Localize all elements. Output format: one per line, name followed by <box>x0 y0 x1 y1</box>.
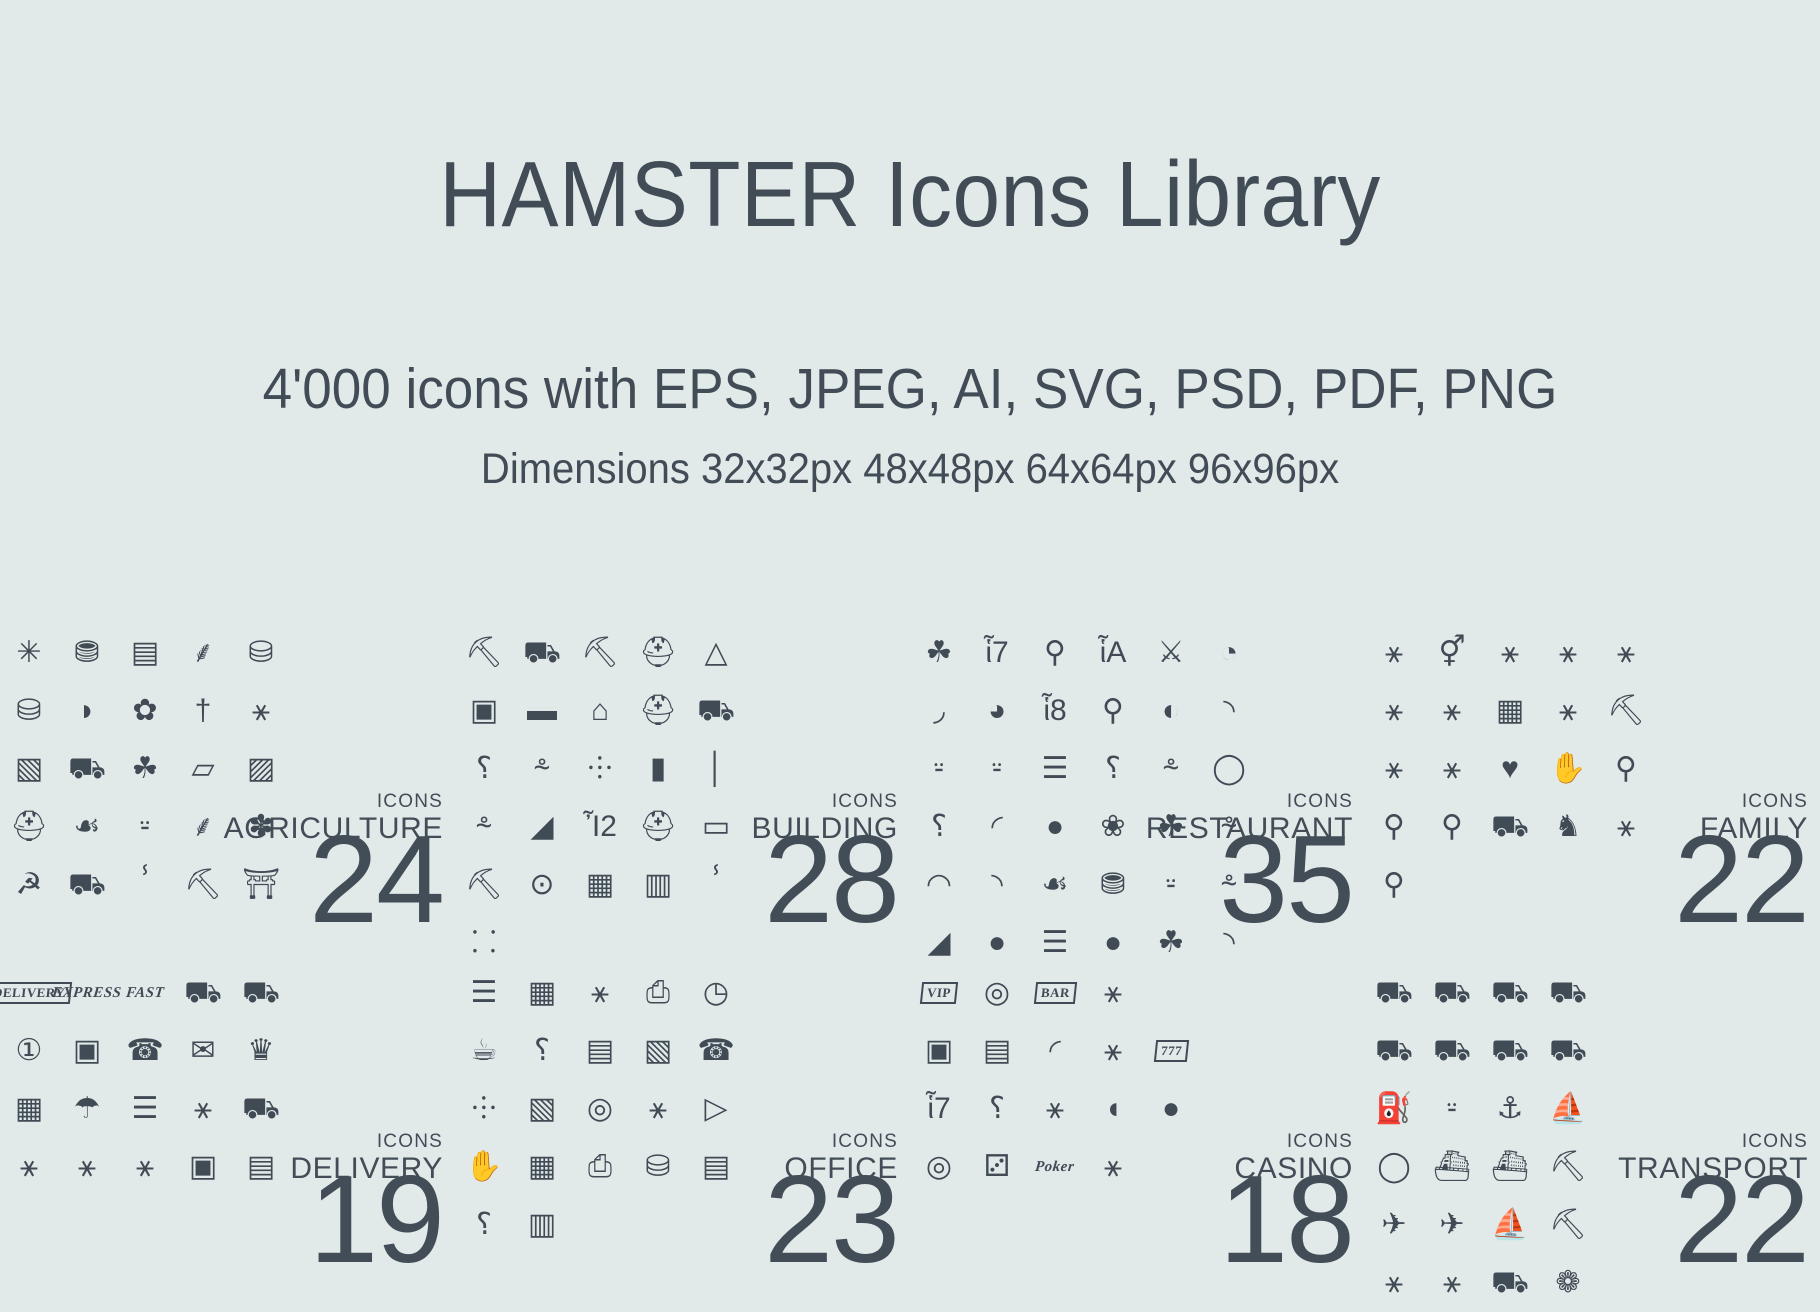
scooter-icon-glyph: ⚹ <box>78 1152 96 1182</box>
caption-icons-label: ICONS <box>1674 792 1808 811</box>
noodle-plate-icon-glyph: ◝ <box>991 870 1003 900</box>
coffee-cup-icon[interactable]: ☕ <box>455 1022 513 1080</box>
train-icon[interactable]: ⛟ <box>1481 1254 1539 1312</box>
chip-icon-glyph: ◎ <box>926 1152 952 1182</box>
bicycle-icon[interactable]: ⚲ <box>1423 798 1481 856</box>
peas-pod-icon[interactable]: ☙ <box>58 798 116 856</box>
ride-toy-icon[interactable]: ⛟ <box>1481 798 1539 856</box>
caption-count: 23 <box>764 1158 898 1282</box>
category-caption-office: ICONSOFFICE23 <box>764 1132 898 1282</box>
heart-icon-glyph: ♥ <box>1501 754 1519 784</box>
gondola-icon-glyph: ⛏ <box>1549 1210 1587 1240</box>
measure-tape-icon[interactable]: ⊙ <box>513 856 571 914</box>
screwdriver-icon[interactable]: ⸮ <box>455 740 513 798</box>
rake-icon-glyph: ⸯ <box>136 870 153 900</box>
pregnant-icon[interactable]: ⚹ <box>1365 682 1423 740</box>
haystack-icon-glyph: ▤ <box>131 638 159 668</box>
fast-text-icon[interactable]: FAST <box>116 964 174 1022</box>
bus-icon-glyph: ⛟ <box>1375 978 1413 1008</box>
eggplant-icon[interactable]: ◠ <box>910 856 968 914</box>
paperclip-icon-glyph: ⸮ <box>534 1036 550 1066</box>
megaphone-icon[interactable]: ▷ <box>687 1080 745 1138</box>
stroller-icon[interactable]: ⛏ <box>1597 682 1655 740</box>
yacht-icon-glyph: ⛴ <box>1433 1152 1471 1182</box>
dealer-icon[interactable]: ⚹ <box>1084 1138 1142 1196</box>
father-child-icon[interactable]: ⚹ <box>1365 624 1423 682</box>
pushpin-icon[interactable]: ⸭ <box>455 1080 513 1138</box>
farmer-icon[interactable]: ⚹ <box>232 682 290 740</box>
calendar-icon-glyph: ▦ <box>15 1094 43 1124</box>
pen-holder-icon-glyph: ⸮ <box>476 1210 492 1240</box>
pipe-icon-glyph: ⸛ <box>1162 754 1179 784</box>
onion-icon[interactable]: ● <box>1026 798 1084 856</box>
pan-icon[interactable]: ◯ <box>1200 740 1258 798</box>
rattle-icon[interactable]: ⚲ <box>1365 856 1423 914</box>
trowel-icon[interactable]: ◢ <box>513 798 571 856</box>
sunflower-icon[interactable]: ✿ <box>116 682 174 740</box>
noodle-plate-icon[interactable]: ◝ <box>968 856 1026 914</box>
forklift-icon[interactable]: ⛟ <box>513 624 571 682</box>
whale-icon[interactable]: ⸚ <box>1423 1080 1481 1138</box>
champagne-icon-glyph: ἷ7 <box>927 1094 950 1124</box>
caption-count: 22 <box>1674 818 1808 942</box>
soup-bowl-icon-glyph: ◜ <box>991 812 1003 842</box>
grill-icon[interactable]: ☰ <box>1026 740 1084 798</box>
child-play-icon-glyph: ⚹ <box>1559 638 1577 668</box>
bread-icon[interactable]: ◝ <box>1200 682 1258 740</box>
clipboard-icon[interactable]: ☰ <box>455 964 513 1022</box>
saw-icon-glyph: ⸯ <box>707 870 724 900</box>
motorcycle-icon-glyph: ⚹ <box>1385 1268 1403 1298</box>
dealer-icon-glyph: ⚹ <box>1104 1152 1122 1182</box>
apple-icon[interactable]: ☘ <box>910 624 968 682</box>
family-icon[interactable]: ⚹ <box>1539 682 1597 740</box>
onion-icon-glyph: ● <box>1046 812 1064 842</box>
toolbox-icon[interactable]: ▣ <box>455 682 513 740</box>
soup-bowl-icon[interactable]: ◜ <box>968 798 1026 856</box>
van-icon[interactable]: ⛟ <box>232 1080 290 1138</box>
pliers-icon[interactable]: ⸛ <box>513 740 571 798</box>
money-stack-icon[interactable]: ▤ <box>968 1022 1026 1080</box>
scarecrow-icon[interactable]: † <box>174 682 232 740</box>
milk-can-icon[interactable]: ⛁ <box>232 624 290 682</box>
roulette-icon[interactable]: ◎ <box>968 964 1026 1022</box>
propeller-icon[interactable]: ❁ <box>1539 1254 1597 1312</box>
straw-hat-icon-glyph: ⛑ <box>10 812 48 842</box>
phone-money-icon[interactable]: ☎ <box>687 1022 745 1080</box>
croupier-icon-glyph: ⚹ <box>1104 1036 1122 1066</box>
milk-can-icon-glyph: ⛁ <box>248 638 273 668</box>
trailer-icon[interactable]: ⛟ <box>232 964 290 1022</box>
caption-icons-label: ICONS <box>1618 1132 1808 1151</box>
ladle-icon[interactable]: ⸮ <box>910 798 968 856</box>
vip-sign-icon[interactable]: VIP <box>910 964 968 1022</box>
couple-icon[interactable]: ⚥ <box>1423 624 1481 682</box>
slot-machine-icon[interactable]: ▣ <box>910 1022 968 1080</box>
hard-hat-icon[interactable]: ⛑ <box>629 624 687 682</box>
team-icon[interactable]: ⚹ <box>629 1080 687 1138</box>
team-icon-glyph: ⚹ <box>649 1094 667 1124</box>
plane-tool-icon-glyph: ▭ <box>702 812 730 842</box>
notepad-icon[interactable]: ▧ <box>513 1080 571 1138</box>
caption-count: 28 <box>752 818 899 942</box>
caption-icons-label: ICONS <box>1219 1132 1353 1151</box>
file-tool-icon[interactable]: │ <box>687 740 745 798</box>
fax-icon[interactable]: ⎙ <box>629 964 687 1022</box>
field-icon[interactable]: ▱ <box>174 740 232 798</box>
scooter-icon[interactable]: ⚹ <box>58 1138 116 1196</box>
airplane-icon-glyph: ✈ <box>1381 1210 1406 1240</box>
icon-grid-delivery: DELIVERYEXPRESSFAST⛟⛟①▣☎✉♛▦☂☰⚹⛟⚹⚹⚹▣▤ <box>0 950 290 1196</box>
porter-icon[interactable]: ⚹ <box>116 1138 174 1196</box>
excavator-icon-glyph: ⛏ <box>465 638 503 668</box>
paint-brush-icon-glyph: ⸭ <box>588 754 613 784</box>
chisel-icon[interactable]: ▮ <box>629 740 687 798</box>
formats-subtitle: 4'000 icons with EPS, JPEG, AI, SVG, PSD… <box>64 241 1757 418</box>
dice-icon-glyph: ⚂ <box>984 1152 1010 1182</box>
haystack-icon[interactable]: ▤ <box>116 624 174 682</box>
windmill-icon[interactable]: ✳ <box>0 624 58 682</box>
office-chair-icon[interactable]: ⛁ <box>629 1138 687 1196</box>
umbrella-icon-glyph: ☂ <box>74 1094 101 1124</box>
caption-icons-label: ICONS <box>224 792 443 811</box>
forklift-icon-glyph: ⛟ <box>523 638 561 668</box>
plowshare-icon[interactable]: ◗ <box>58 682 116 740</box>
icon-cell-empty <box>1597 1080 1655 1138</box>
suv-icon-glyph: ⛟ <box>1549 1036 1587 1066</box>
wheat-ear-icon[interactable]: ⸙ <box>174 624 232 682</box>
charts-icon[interactable]: ▥ <box>513 1196 571 1254</box>
target-icon[interactable]: ◎ <box>571 1080 629 1138</box>
jet-icon-glyph: ✈ <box>1439 1210 1464 1240</box>
bar-sign-icon[interactable]: BAR <box>1026 964 1084 1022</box>
screwdriver-icon-glyph: ⸮ <box>476 754 492 784</box>
burlesque-icon[interactable]: ⚹ <box>1026 1080 1084 1138</box>
cargo-ship-icon[interactable]: ⛴ <box>1481 1138 1539 1196</box>
wheelbarrow-icon[interactable]: ⛏ <box>571 624 629 682</box>
cocktail-icon[interactable]: ἷ8 <box>1026 682 1084 740</box>
car-icon[interactable]: ⛟ <box>1423 964 1481 1022</box>
icon-cell-empty <box>1142 964 1200 1022</box>
dimensions-line: Dimensions 32x32px 48x48px 64x64px 96x96… <box>64 418 1757 491</box>
bike-courier-icon[interactable]: ⚹ <box>0 1138 58 1196</box>
category-caption-building: ICONSBUILDING28 <box>752 792 899 942</box>
entrance-icon[interactable]: ⚹ <box>1084 964 1142 1022</box>
croupier-icon[interactable]: ⚹ <box>1084 1022 1142 1080</box>
cable-car-icon-glyph: ⛏ <box>1549 1152 1587 1182</box>
excavator-icon[interactable]: ⛏ <box>455 624 513 682</box>
money-bag-icon-glyph: ◖ <box>1104 1094 1122 1124</box>
parcel-icon[interactable]: ▣ <box>58 1022 116 1080</box>
boxes-icon[interactable]: ▤ <box>232 1138 290 1196</box>
telephone-icon-glyph: ☎ <box>126 1036 163 1066</box>
777-icon[interactable]: 777 <box>1142 1022 1200 1080</box>
handshake-icon[interactable]: ✋ <box>455 1138 513 1196</box>
money-stack-icon-glyph: ▤ <box>983 1036 1011 1066</box>
category-caption-delivery: ICONSDELIVERY19 <box>290 1132 443 1282</box>
tram-icon[interactable]: ⛟ <box>1481 1022 1539 1080</box>
worker-icon[interactable]: ⛑ <box>629 682 687 740</box>
baby-crawl-icon-glyph: ⚹ <box>1617 812 1635 842</box>
darts-icon-glyph: ⸮ <box>989 1094 1005 1124</box>
gondola-icon[interactable]: ⛏ <box>1539 1196 1597 1254</box>
sprout-icon-glyph: ⸚ <box>140 812 150 842</box>
fuel-station-icon[interactable]: ⛽ <box>1365 1080 1423 1138</box>
coffee-cup-icon-glyph: ☕ <box>471 1036 498 1066</box>
documents-icon[interactable]: ☰ <box>116 1080 174 1138</box>
bottle-icon[interactable]: ⚲ <box>1026 624 1084 682</box>
plowshare-icon-glyph: ◗ <box>78 696 96 726</box>
category-block-delivery: DELIVERYEXPRESSFAST⛟⛟①▣☎✉♛▦☂☰⚹⛟⚹⚹⚹▣▤ICON… <box>0 950 455 1290</box>
apple-icon-glyph: ☘ <box>926 638 953 668</box>
vip-sign-icon-label: VIP <box>920 982 958 1004</box>
blueprint-icon[interactable]: ▦ <box>571 856 629 914</box>
chips-icon-glyph: ● <box>1162 1094 1180 1124</box>
truck-icon[interactable]: ⛟ <box>1481 964 1539 1022</box>
target-icon-glyph: ◎ <box>587 1094 613 1124</box>
plane-tool-icon[interactable]: ▭ <box>687 798 745 856</box>
champagne-icon[interactable]: ἷ7 <box>910 1080 968 1138</box>
darts-icon[interactable]: ⸮ <box>968 1080 1026 1138</box>
jet-icon[interactable]: ✈ <box>1423 1196 1481 1254</box>
rocking-horse-icon-glyph: ♞ <box>1555 812 1582 842</box>
ambulance-icon[interactable]: ⛟ <box>1365 1022 1423 1080</box>
propeller-icon-glyph: ❁ <box>1555 1268 1580 1298</box>
steak-icon[interactable]: ◐ <box>1142 682 1200 740</box>
suv-icon[interactable]: ⛟ <box>1539 1022 1597 1080</box>
24h-calendar-icon[interactable]: ▦ <box>513 1138 571 1196</box>
wheelbarrow-icon-glyph: ⛏ <box>581 638 619 668</box>
binder-clip-icon[interactable]: ▤ <box>687 1138 745 1196</box>
cargo-ship-icon-glyph: ⛴ <box>1491 1152 1529 1182</box>
archive-icon-glyph: ▤ <box>586 1036 614 1066</box>
building-icon[interactable]: Ἶ2 <box>571 798 629 856</box>
pregnant-icon-glyph: ⚹ <box>1385 696 1403 726</box>
calendar-icon-glyph: ▦ <box>528 978 556 1008</box>
child-play-icon[interactable]: ⚹ <box>1539 624 1597 682</box>
category-caption-casino: ICONSCASINO18 <box>1219 1132 1353 1282</box>
cutlery-icon-glyph: ⚔ <box>1158 638 1185 668</box>
heart-icon[interactable]: ♥ <box>1481 740 1539 798</box>
anchor-icon[interactable]: ⚓ <box>1481 1080 1539 1138</box>
pen-holder-icon[interactable]: ⸮ <box>455 1196 513 1254</box>
straw-hat-icon[interactable]: ⛑ <box>0 798 58 856</box>
category-block-agriculture: ✳⛃▤⸙⛁⛁◗✿†⚹▧⛟☘▱▨⛑☙⸚⸙✽☭⛟ⸯ⛏⛩ICONSAGRICULTUR… <box>0 610 455 950</box>
beehive-icon[interactable]: ⛃ <box>58 624 116 682</box>
sprout-icon[interactable]: ⸚ <box>116 798 174 856</box>
plowed-field-icon[interactable]: ▧ <box>0 740 58 798</box>
steak-icon-glyph: ◐ <box>1162 696 1180 726</box>
traffic-cone-icon[interactable]: △ <box>687 624 745 682</box>
kids-blocks-icon[interactable]: ▦ <box>1481 682 1539 740</box>
tongs-icon[interactable]: ⸛ <box>455 798 513 856</box>
anchor-icon-glyph: ⚓ <box>1497 1094 1524 1124</box>
turkey-icon[interactable]: ◕ <box>968 682 1026 740</box>
cart-box-icon-glyph: ▣ <box>189 1152 217 1182</box>
helmet-icon[interactable]: ⛑ <box>629 798 687 856</box>
airplane-icon[interactable]: ✈ <box>1365 1196 1423 1254</box>
24h-icon[interactable]: ① <box>0 1022 58 1080</box>
truck-icon-glyph: ⛟ <box>184 978 222 1008</box>
beer-mug-icon[interactable]: ἷA <box>1084 624 1142 682</box>
cart-box-icon[interactable]: ▣ <box>174 1138 232 1196</box>
pliers-icon-glyph: ⸛ <box>533 754 550 784</box>
businessman-icon[interactable]: ⚹ <box>571 964 629 1022</box>
hands-icon[interactable]: ✋ <box>1539 740 1597 798</box>
wine-glass-icon-glyph: ἷ7 <box>985 638 1008 668</box>
pickup-icon[interactable]: ⛟ <box>1423 1022 1481 1080</box>
express-text-icon[interactable]: EXPRESS <box>58 964 116 1022</box>
category-caption-family: ICONSFAMILY22 <box>1674 792 1808 942</box>
baby-bottle-icon[interactable]: ⚲ <box>1597 740 1655 798</box>
caption-icons-label: ICONS <box>764 1132 898 1151</box>
pacifier-icon[interactable]: ⚲ <box>1365 798 1423 856</box>
category-caption-transport: ICONSTRANSPORT22 <box>1618 1132 1808 1282</box>
businessman-icon-glyph: ⚹ <box>591 978 609 1008</box>
category-caption-restaurant: ICONSRESTAURANT35 <box>1146 792 1353 942</box>
grapes-icon-glyph: ☘ <box>132 754 159 784</box>
phone-money-icon-glyph: ☎ <box>697 1036 734 1066</box>
truck-icon-glyph: ⛟ <box>1491 978 1529 1008</box>
saw-icon[interactable]: ⸯ <box>687 856 745 914</box>
speedboat-icon-glyph: ⛵ <box>1491 1210 1528 1240</box>
dancing-icon-glyph: ⚹ <box>1501 638 1519 668</box>
parent-lift-icon[interactable]: ⚹ <box>1597 624 1655 682</box>
burlesque-icon-glyph: ⚹ <box>1046 1094 1064 1124</box>
clock-icon-glyph: ◷ <box>703 978 729 1008</box>
paint-roller-icon[interactable]: ▬ <box>513 682 571 740</box>
drill-icon[interactable]: ⛏ <box>455 856 513 914</box>
bottle-icon-glyph: ⚲ <box>1044 638 1066 668</box>
printer-icon[interactable]: ⎙ <box>571 1138 629 1196</box>
pipe-icon[interactable]: ⸛ <box>1142 740 1200 798</box>
roulette-icon-glyph: ◎ <box>984 978 1010 1008</box>
scarecrow-icon-glyph: † <box>195 696 212 726</box>
cable-car-icon[interactable]: ⛏ <box>1539 1138 1597 1196</box>
brick-wall-icon[interactable]: ▥ <box>629 856 687 914</box>
seed-bag-icon-glyph: ⛁ <box>16 696 41 726</box>
mushroom-icon[interactable]: ⛃ <box>1084 856 1142 914</box>
trophy-icon[interactable]: ♛ <box>232 1022 290 1080</box>
tractor-icon[interactable]: ⛟ <box>58 740 116 798</box>
umbrella-icon[interactable]: ☂ <box>58 1080 116 1138</box>
telephone-icon[interactable]: ☎ <box>116 1022 174 1080</box>
building-icon-glyph: Ἶ2 <box>583 812 617 842</box>
clock-icon[interactable]: ◷ <box>687 964 745 1022</box>
wine-glass-icon[interactable]: ἷ7 <box>968 624 1026 682</box>
yacht-icon[interactable]: ⛴ <box>1423 1138 1481 1196</box>
wheat-stalk-icon-glyph: ⸙ <box>192 812 215 842</box>
baby-crawl-icon[interactable]: ⚹ <box>1597 798 1655 856</box>
paperclip-icon[interactable]: ⸮ <box>513 1022 571 1080</box>
paint-brush-icon[interactable]: ⸭ <box>571 740 629 798</box>
cutlery-icon[interactable]: ⚔ <box>1142 624 1200 682</box>
dancing-icon[interactable]: ⚹ <box>1481 624 1539 682</box>
seed-bag-icon[interactable]: ⛁ <box>0 682 58 740</box>
caption-icons-label: ICONS <box>752 792 899 811</box>
dice-icon[interactable]: ⚂ <box>968 1138 1026 1196</box>
hands-icon-glyph: ✋ <box>1549 754 1586 784</box>
calendar-icon[interactable]: ▦ <box>0 1080 58 1138</box>
rake-icon[interactable]: ⸯ <box>116 856 174 914</box>
farmer-icon-glyph: ⚹ <box>252 696 270 726</box>
sailboat-icon[interactable]: ⛵ <box>1539 1080 1597 1138</box>
fish-fillet-icon-glyph: ⸚ <box>992 754 1002 784</box>
category-block-casino: VIP◎BAR⚹▣▤◜⚹777ἷ7⸮⚹◖●◎⚂Poker⚹ICONSCASINO… <box>910 950 1365 1290</box>
chip-icon[interactable]: ◎ <box>910 1138 968 1196</box>
teapot-icon[interactable]: ⚲ <box>1084 682 1142 740</box>
ride-toy-icon-glyph: ⛟ <box>1491 812 1529 842</box>
chili-icon[interactable]: ◞ <box>910 682 968 740</box>
child-run-icon[interactable]: ⚹ <box>1423 682 1481 740</box>
scooter-icon[interactable]: ⚹ <box>1423 1254 1481 1312</box>
header: HAMSTER Icons Library 4'000 icons with E… <box>0 0 1820 491</box>
calendar-icon[interactable]: ▦ <box>513 964 571 1022</box>
leaf-icon[interactable]: ☙ <box>1026 856 1084 914</box>
fax-icon-glyph: ⎙ <box>646 978 670 1008</box>
chips-icon[interactable]: ● <box>1142 1080 1200 1138</box>
speedboat-icon[interactable]: ⛵ <box>1481 1196 1539 1254</box>
traffic-cone-icon-glyph: △ <box>704 638 727 668</box>
harvester-icon[interactable]: ⛟ <box>58 856 116 914</box>
brick-wall-icon-glyph: ▥ <box>644 870 672 900</box>
poker-icon[interactable]: Poker <box>1026 1138 1084 1196</box>
delivery-text-icon[interactable]: DELIVERY <box>0 964 58 1022</box>
woman-icon[interactable]: ⚹ <box>1423 740 1481 798</box>
parcel-icon-glyph: ▣ <box>73 1036 101 1066</box>
777-icon-label: 777 <box>1153 1040 1188 1062</box>
fuel-station-icon-glyph: ⛽ <box>1375 1094 1412 1124</box>
money-bag-icon[interactable]: ◖ <box>1084 1080 1142 1138</box>
motorcycle-icon[interactable]: ⚹ <box>1365 1254 1423 1312</box>
broccoli-icon[interactable]: ❀ <box>1084 798 1142 856</box>
envelope-icon[interactable]: ✉ <box>174 1022 232 1080</box>
wheelbarrow-icon-glyph: ⛏ <box>184 870 222 900</box>
courier-icon[interactable]: ⚹ <box>174 1080 232 1138</box>
airship-icon[interactable]: ◯ <box>1365 1138 1423 1196</box>
kebab-icon[interactable]: ⸮ <box>1084 740 1142 798</box>
icon-grid-casino: VIP◎BAR⚹▣▤◜⚹777ἷ7⸮⚹◖●◎⚂Poker⚹ <box>910 950 1200 1196</box>
pepper-icon[interactable]: ⸚ <box>910 740 968 798</box>
horseshoe-icon[interactable]: ◜ <box>1026 1022 1084 1080</box>
truck-icon[interactable]: ⛟ <box>174 964 232 1022</box>
train-icon-glyph: ⛟ <box>1491 1268 1529 1298</box>
kids-blocks-icon-glyph: ▦ <box>1496 696 1524 726</box>
page-title: HAMSTER Icons Library <box>73 0 1747 241</box>
contact-card-icon[interactable]: ▧ <box>629 1022 687 1080</box>
grapes-icon[interactable]: ☘ <box>116 740 174 798</box>
sickle-icon[interactable]: ☭ <box>0 856 58 914</box>
archive-icon[interactable]: ▤ <box>571 1022 629 1080</box>
fish-fillet-icon[interactable]: ⸚ <box>968 740 1026 798</box>
eggplant-icon-glyph: ◠ <box>926 870 952 900</box>
burger-icon[interactable]: ◔ <box>1200 624 1258 682</box>
man-icon[interactable]: ⚹ <box>1365 740 1423 798</box>
handshake-icon-glyph: ✋ <box>465 1152 502 1182</box>
boxes-icon-glyph: ▤ <box>247 1152 275 1182</box>
cement-mixer-icon[interactable]: ⛟ <box>687 682 745 740</box>
minibus-icon[interactable]: ⛟ <box>1539 964 1597 1022</box>
hay-bale-icon[interactable]: ▨ <box>232 740 290 798</box>
house-icon[interactable]: ⌂ <box>571 682 629 740</box>
father-child-icon-glyph: ⚹ <box>1385 638 1403 668</box>
airship-icon-glyph: ◯ <box>1377 1152 1411 1182</box>
plowed-field-icon-glyph: ▧ <box>15 754 43 784</box>
chili-icon-glyph: ◞ <box>933 696 945 726</box>
rocking-horse-icon[interactable]: ♞ <box>1539 798 1597 856</box>
charts-icon-glyph: ▥ <box>528 1210 556 1240</box>
bus-icon[interactable]: ⛟ <box>1365 964 1423 1022</box>
